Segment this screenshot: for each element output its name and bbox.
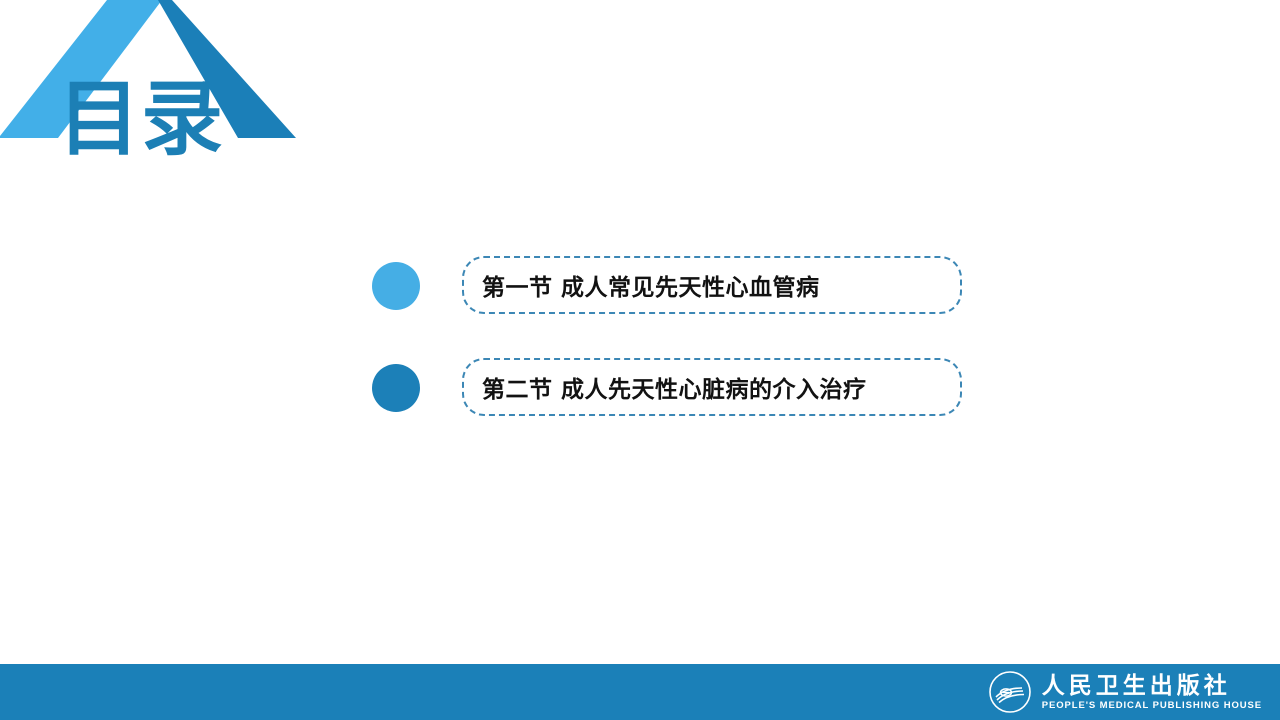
toc-item-box[interactable]: 第一节 成人常见先天性心血管病 <box>462 256 962 314</box>
publisher-logo: 人民卫生出版社 PEOPLE'S MEDICAL PUBLISHING HOUS… <box>988 668 1262 716</box>
toc-item-label: 第二节 成人先天性心脏病的介入治疗 <box>464 370 867 404</box>
toc-item-box[interactable]: 第二节 成人先天性心脏病的介入治疗 <box>462 358 962 416</box>
list-item[interactable]: 第二节 成人先天性心脏病的介入治疗 <box>372 358 972 418</box>
publisher-text-block: 人民卫生出版社 PEOPLE'S MEDICAL PUBLISHING HOUS… <box>1042 674 1262 711</box>
page-title: 目录 <box>58 74 224 166</box>
toc-item-label: 第一节 成人常见先天性心血管病 <box>464 268 820 302</box>
toc-bullet-icon <box>372 364 420 412</box>
publisher-name-cn: 人民卫生出版社 <box>1042 674 1262 697</box>
slide-canvas: 目录 第一节 成人常见先天性心血管病 第二节 成人先天性心脏病的介入治疗 <box>0 0 1280 720</box>
list-item[interactable]: 第一节 成人常见先天性心血管病 <box>372 256 972 316</box>
toc-bullet-icon <box>372 262 420 310</box>
publisher-emblem-icon <box>988 670 1032 714</box>
toc-list: 第一节 成人常见先天性心血管病 第二节 成人先天性心脏病的介入治疗 <box>372 256 972 460</box>
publisher-name-en: PEOPLE'S MEDICAL PUBLISHING HOUSE <box>1042 701 1262 711</box>
